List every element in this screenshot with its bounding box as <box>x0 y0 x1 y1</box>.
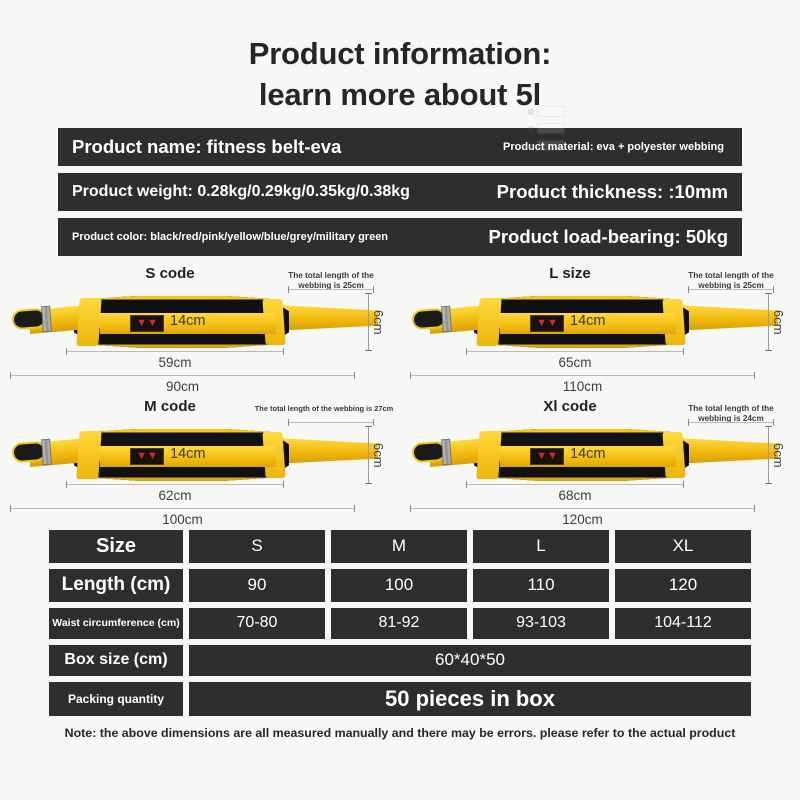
product-load-bearing-text: Product load-bearing: 50kg <box>488 226 728 248</box>
belt-metal-buckle <box>41 439 52 466</box>
product-name-text: Product name: fitness belt-eva <box>72 136 341 158</box>
belt-width-label-xl: 14cm <box>570 446 605 462</box>
belt-right-strap <box>274 438 378 464</box>
webbing-dimension-line-xl <box>688 422 774 423</box>
cell-packing-quantity-value: 50 pieces in box <box>189 682 751 716</box>
belt-inner-length-dimension-xl: 68cm <box>466 484 684 510</box>
table-row-waist: Waist circumference (cm) 70-80 81-92 93-… <box>49 608 751 639</box>
cell-waist-m: 81-92 <box>331 608 467 639</box>
spec-bar-weight-thickness: Product weight: 0.28kg/0.29kg/0.35kg/0.3… <box>58 173 742 211</box>
cell-size-l: L <box>473 530 609 563</box>
row-header-size: Size <box>49 530 183 563</box>
belt-right-strap <box>274 305 378 331</box>
belt-brand-logo: ▼▼ <box>130 315 164 332</box>
cell-length-m: 100 <box>331 569 467 602</box>
webbing-dimension-line-s <box>288 289 374 290</box>
belt-diagram-m: M code The total length of the webbing i… <box>0 396 400 528</box>
belt-inner-length-dimension-m: 62cm <box>66 484 284 510</box>
webbing-dimension-line-m <box>288 422 374 423</box>
belt-illustration-m: ▼▼ 14cm <box>12 426 380 484</box>
belt-brand-logo: ▼▼ <box>530 315 564 332</box>
belt-loop-left <box>476 431 501 479</box>
belt-outer-length-dimension-xl: 120cm <box>410 508 755 534</box>
cell-length-s: 90 <box>189 569 325 602</box>
cell-length-xl: 120 <box>615 569 751 602</box>
page-title: Product information: learn more about 5l <box>220 34 580 116</box>
spec-bar-name-material: Product name: fitness belt-eva Product m… <box>58 128 742 166</box>
belt-height-label-xl: 6cm <box>771 443 786 468</box>
webbing-length-note-m: The total length of the webbing is 27cm <box>254 404 394 413</box>
belt-inner-length-label-l: 65cm <box>466 355 684 370</box>
belt-outer-length-label-s: 90cm <box>10 379 355 394</box>
belt-loop-left <box>76 431 101 479</box>
belt-inner-length-dimension-s: 59cm <box>66 351 284 377</box>
belt-outer-length-label-m: 100cm <box>10 512 355 527</box>
belt-loop-left <box>476 298 501 346</box>
belt-width-label-s: 14cm <box>170 313 205 329</box>
cell-waist-s: 70-80 <box>189 608 325 639</box>
footer-disclaimer-note: Note: the above dimensions are all measu… <box>0 726 800 740</box>
cell-waist-l: 93-103 <box>473 608 609 639</box>
belt-loop-left <box>76 298 101 346</box>
row-header-box-size: Box size (cm) <box>49 645 183 676</box>
belt-width-label-m: 14cm <box>170 446 205 462</box>
cell-waist-xl: 104-112 <box>615 608 751 639</box>
product-weight-text: Product weight: 0.28kg/0.29kg/0.35kg/0.3… <box>72 183 410 201</box>
belt-diagram-s: S code The total length of the webbing i… <box>0 263 400 395</box>
cell-box-size-value: 60*40*50 <box>189 645 751 676</box>
belt-diagram-xl: Xl code The total length of the webbing … <box>400 396 800 528</box>
belt-width-label-l: 14cm <box>570 313 605 329</box>
belt-height-dimension-m: 6cm <box>368 426 386 484</box>
belt-brand-logo: ▼▼ <box>130 448 164 465</box>
product-color-text: Product color: black/red/pink/yellow/blu… <box>72 231 388 243</box>
belt-metal-buckle <box>41 306 52 333</box>
faint-watermark-graphic <box>528 106 574 152</box>
belt-inner-length-label-s: 59cm <box>66 355 284 370</box>
page-header: Product information: learn more about 5l <box>0 0 800 116</box>
belt-illustration-xl: ▼▼ 14cm <box>412 426 780 484</box>
belt-metal-buckle <box>441 439 452 466</box>
specification-bars: Product name: fitness belt-eva Product m… <box>58 128 742 256</box>
belt-height-label-l: 6cm <box>771 310 786 335</box>
belt-diagram-l: L size The total length of the webbing i… <box>400 263 800 395</box>
spec-bar-color-load: Product color: black/red/pink/yellow/blu… <box>58 218 742 256</box>
row-header-packing-quantity: Packing quantity <box>49 682 183 716</box>
row-header-waist: Waist circumference (cm) <box>49 608 183 639</box>
table-row-size: Size S M L XL <box>49 530 751 563</box>
cell-size-m: M <box>331 530 467 563</box>
table-row-length: Length (cm) 90 100 110 120 <box>49 569 751 602</box>
belt-height-dimension-xl: 6cm <box>768 426 786 484</box>
belt-height-label-s: 6cm <box>371 310 386 335</box>
belt-outer-length-label-xl: 120cm <box>410 512 755 527</box>
table-row-packing-quantity: Packing quantity 50 pieces in box <box>49 682 751 716</box>
belt-illustration-l: ▼▼ 14cm <box>412 293 780 351</box>
belt-diagram-grid: S code The total length of the webbing i… <box>0 263 800 528</box>
belt-metal-buckle <box>441 306 452 333</box>
cell-size-xl: XL <box>615 530 751 563</box>
belt-outer-length-dimension-m: 100cm <box>10 508 355 534</box>
row-header-length: Length (cm) <box>49 569 183 602</box>
belt-inner-length-label-m: 62cm <box>66 488 284 503</box>
size-specification-table: Size S M L XL Length (cm) 90 100 110 120… <box>49 530 751 716</box>
belt-height-label-m: 6cm <box>371 443 386 468</box>
belt-outer-length-label-l: 110cm <box>410 379 755 394</box>
cell-length-l: 110 <box>473 569 609 602</box>
belt-brand-logo: ▼▼ <box>530 448 564 465</box>
belt-illustration-s: ▼▼ 14cm <box>12 293 380 351</box>
webbing-dimension-line-l <box>688 289 774 290</box>
belt-right-strap <box>674 438 778 464</box>
belt-height-dimension-s: 6cm <box>368 293 386 351</box>
belt-right-strap <box>674 305 778 331</box>
cell-size-s: S <box>189 530 325 563</box>
belt-inner-length-dimension-l: 65cm <box>466 351 684 377</box>
belt-inner-length-label-xl: 68cm <box>466 488 684 503</box>
product-thickness-text: Product thickness: :10mm <box>497 181 728 203</box>
belt-height-dimension-l: 6cm <box>768 293 786 351</box>
table-row-box-size: Box size (cm) 60*40*50 <box>49 645 751 676</box>
